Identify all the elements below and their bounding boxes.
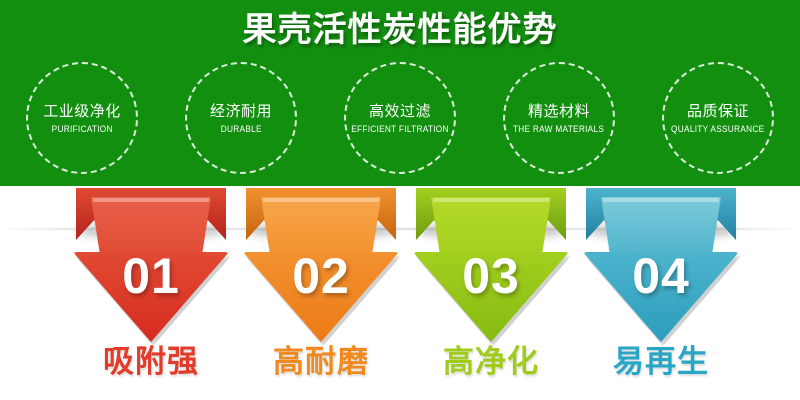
arrow-number: 01 <box>62 248 240 304</box>
shaft-gloss <box>433 198 549 202</box>
arrow-captions-row: 吸附强 高耐磨 高净化 易再生 <box>0 338 800 396</box>
shaft-gloss <box>263 198 379 202</box>
feature-circle-label-en: PURIFICATION <box>51 123 112 135</box>
feature-circle-label-cn: 工业级净化 <box>43 102 121 121</box>
feature-circle-label-en: THE RAW MATERIALS <box>513 123 604 135</box>
feature-circle-purification: 工业级净化 PURIFICATION <box>26 62 138 174</box>
shaft-gloss <box>603 198 719 202</box>
feature-circles-row: 工业级净化 PURIFICATION 经济耐用 DURABLE 高效过滤 EFF… <box>0 62 800 174</box>
feature-circle-label-cn: 品质保证 <box>687 102 749 121</box>
arrow-caption-03: 高净化 <box>402 338 580 386</box>
arrows-section: 01 02 03 <box>0 186 800 400</box>
green-header-band: 果壳活性炭性能优势 工业级净化 PURIFICATION 经济耐用 DURABL… <box>0 0 800 186</box>
arrow-item-01: 01 <box>62 186 240 346</box>
arrow-item-02: 02 <box>232 186 410 346</box>
arrow-number: 04 <box>572 248 750 304</box>
feature-circle-label-en: DURABLE <box>220 123 261 135</box>
feature-circle-quality-assurance: 品质保证 QUALITY ASSURANCE <box>662 62 774 174</box>
arrow-number: 02 <box>232 248 410 304</box>
arrow-caption-02: 高耐磨 <box>232 338 410 386</box>
feature-circle-efficient-filtration: 高效过滤 EFFICIENT FILTRATION <box>344 62 456 174</box>
page-title: 果壳活性炭性能优势 <box>0 9 800 51</box>
arrow-caption-04: 易再生 <box>572 338 750 386</box>
feature-circle-label-cn: 精选材料 <box>528 102 590 121</box>
arrow-number: 03 <box>402 248 580 304</box>
arrows-row: 01 02 03 <box>0 186 800 346</box>
arrow-item-04: 04 <box>572 186 750 346</box>
feature-circle-label-en: QUALITY ASSURANCE <box>671 123 764 135</box>
arrow-item-03: 03 <box>402 186 580 346</box>
feature-circle-raw-materials: 精选材料 THE RAW MATERIALS <box>503 62 615 174</box>
feature-circle-durable: 经济耐用 DURABLE <box>185 62 297 174</box>
arrow-caption-01: 吸附强 <box>62 338 240 386</box>
feature-circle-label-cn: 经济耐用 <box>210 102 272 121</box>
feature-circle-label-cn: 高效过滤 <box>369 102 431 121</box>
product-feature-banner: 果壳活性炭性能优势 工业级净化 PURIFICATION 经济耐用 DURABL… <box>0 0 800 400</box>
feature-circle-label-en: EFFICIENT FILTRATION <box>351 123 449 135</box>
shaft-gloss <box>93 198 209 202</box>
